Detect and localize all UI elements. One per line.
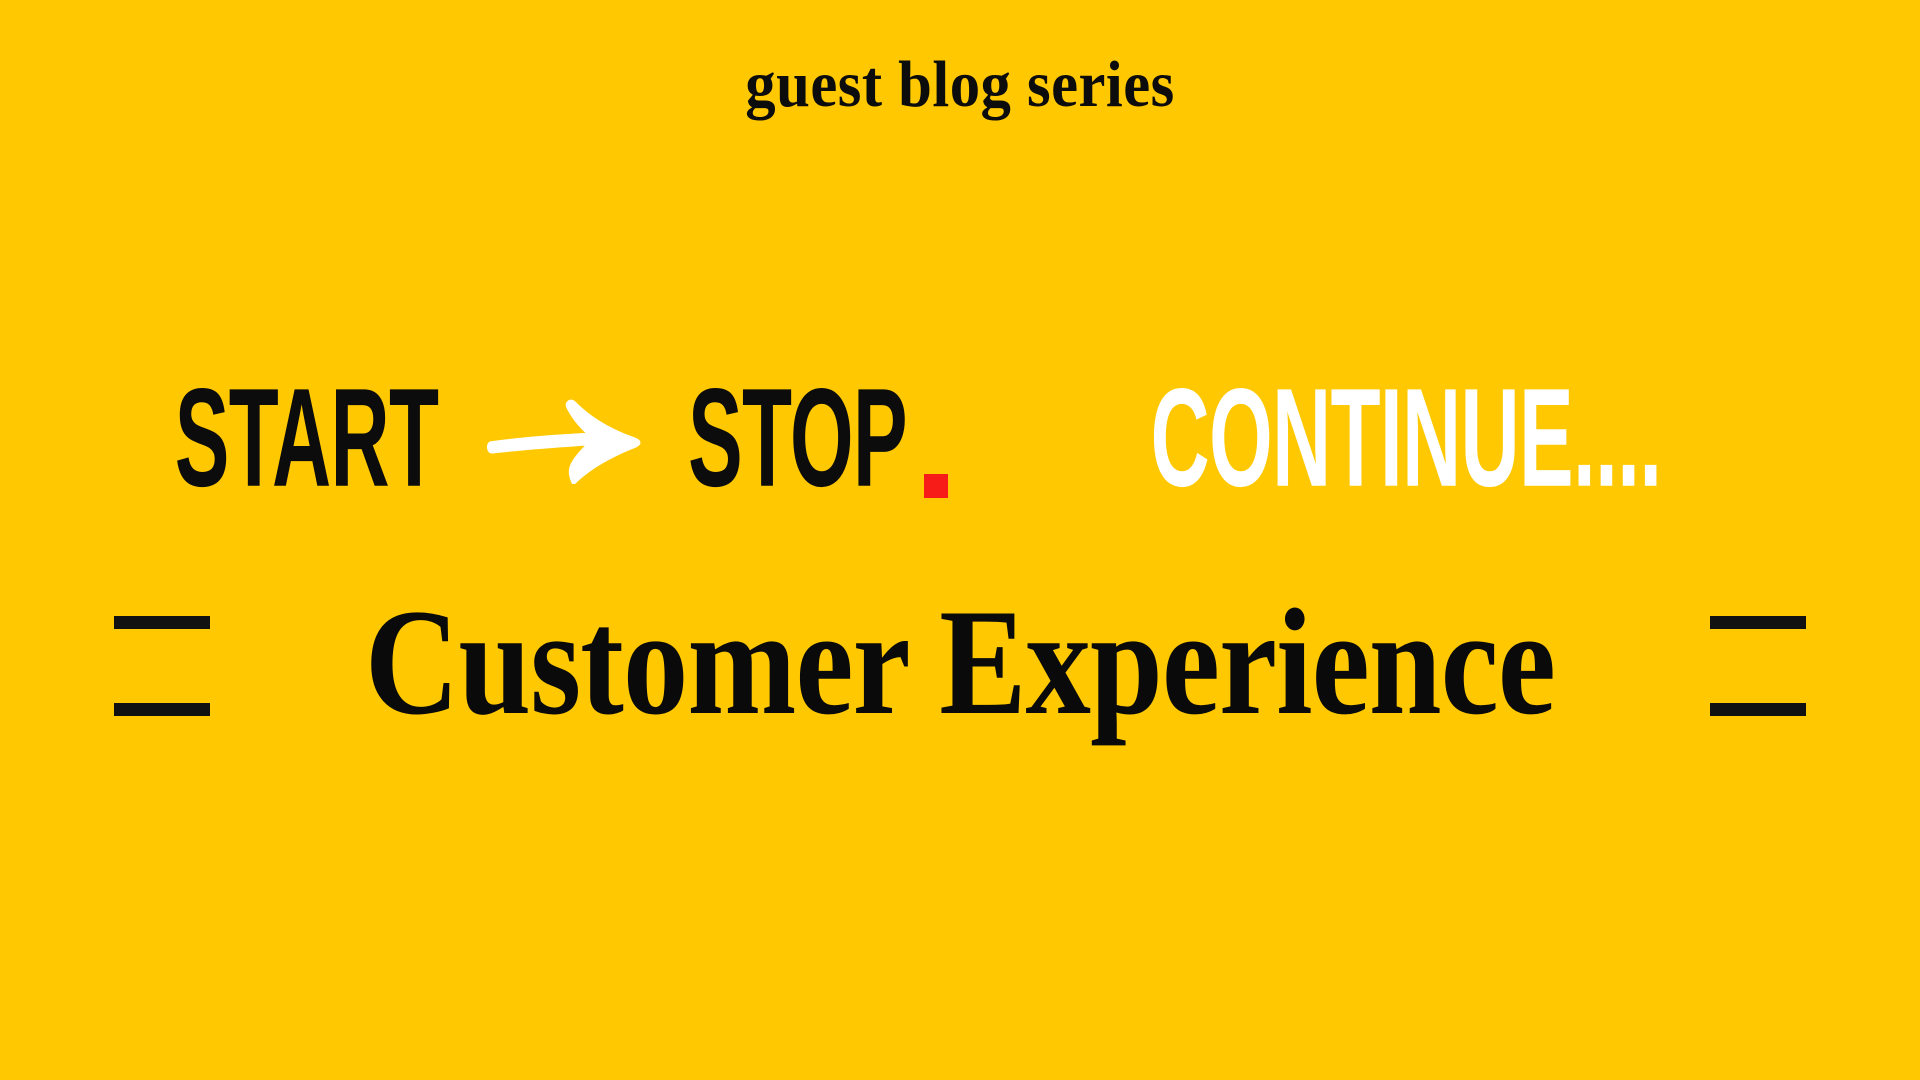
red-period-icon bbox=[924, 474, 948, 498]
equals-bracket-left-icon bbox=[114, 582, 210, 742]
bracket-bar-bottom bbox=[1710, 703, 1806, 716]
bracket-bar-top bbox=[114, 616, 210, 629]
bracket-bar-bottom bbox=[114, 703, 210, 716]
action-row: START STOP CONTINUE.... bbox=[0, 368, 1920, 508]
slide-canvas: guest blog series START STOP CONTINUE...… bbox=[0, 0, 1920, 1080]
arrow-right-icon bbox=[485, 392, 645, 484]
stop-word: STOP bbox=[688, 368, 907, 508]
start-word: START bbox=[175, 368, 439, 508]
eyebrow-label: guest blog series bbox=[77, 52, 1843, 118]
headline-row: Customer Experience bbox=[0, 572, 1920, 752]
continue-word: CONTINUE.... bbox=[1151, 368, 1662, 508]
stop-group: STOP bbox=[671, 372, 948, 504]
bracket-bar-top bbox=[1710, 616, 1806, 629]
equals-bracket-right-icon bbox=[1710, 582, 1806, 742]
page-title: Customer Experience bbox=[365, 586, 1555, 738]
